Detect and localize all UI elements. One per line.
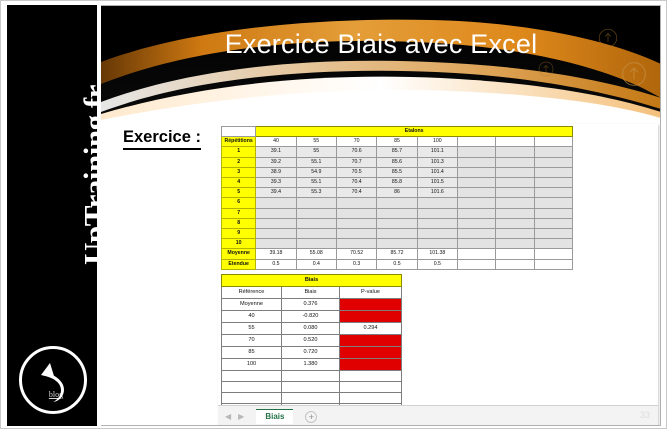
table-row[interactable]: 8: [222, 218, 573, 228]
biais-column-header: Biais: [282, 287, 340, 299]
biais-column-header: Référence: [222, 287, 282, 299]
measurement-cell[interactable]: [496, 157, 534, 167]
up-arrow-circle-watermark-small-icon: [538, 61, 554, 77]
measurement-cell[interactable]: 70.4: [336, 188, 376, 198]
summary-cell[interactable]: [496, 249, 534, 259]
table-row[interactable]: 338.954.970.585.5101.4: [222, 167, 573, 177]
measurement-cell[interactable]: [534, 198, 572, 208]
sheet-nav-prev-icon[interactable]: ◀: [225, 412, 231, 421]
measurement-cell[interactable]: 39.3: [256, 178, 296, 188]
repetition-label: 4: [222, 178, 256, 188]
measurement-cell[interactable]: [496, 198, 534, 208]
measurement-cell[interactable]: [458, 208, 496, 218]
etalon-column-header[interactable]: 70: [336, 137, 376, 147]
biais-reference-cell[interactable]: 70: [222, 335, 282, 347]
empty-cell[interactable]: [282, 371, 340, 382]
measurement-cell[interactable]: 70.6: [336, 147, 376, 157]
etalon-column-header[interactable]: [496, 137, 534, 147]
pvalue-cell[interactable]: [340, 347, 402, 359]
measurement-cell[interactable]: [296, 198, 336, 208]
measurement-cell[interactable]: 55.1: [296, 157, 336, 167]
biais-value-cell[interactable]: -0.820: [282, 311, 340, 323]
empty-cell[interactable]: [340, 393, 402, 404]
summary-cell[interactable]: 0.5: [377, 259, 417, 269]
table-row[interactable]: Moyenne0.376: [222, 299, 402, 311]
summary-row[interactable]: Moyenne39.1855.0870.5285.72101.38: [222, 249, 573, 259]
table-header-row: Répétitions40557085100: [222, 137, 573, 147]
repetition-label: 10: [222, 239, 256, 249]
measurement-cell[interactable]: [458, 229, 496, 239]
biais-reference-cell[interactable]: 55: [222, 323, 282, 335]
measurement-cell[interactable]: [417, 218, 457, 228]
measurement-cell[interactable]: [458, 198, 496, 208]
measurement-cell[interactable]: [336, 198, 376, 208]
table-row[interactable]: 550.0800.294: [222, 323, 402, 335]
repetition-label: 3: [222, 167, 256, 177]
corner-cell: [222, 127, 256, 137]
page-number: 33: [640, 410, 650, 420]
summary-row[interactable]: Etendue0.50.40.30.50.5: [222, 259, 573, 269]
summary-label: Etendue: [222, 259, 256, 269]
summary-cell[interactable]: 55.08: [296, 249, 336, 259]
repetitions-header: Répétitions: [222, 137, 256, 147]
empty-cell[interactable]: [282, 393, 340, 404]
excel-sheet-area[interactable]: EtalonsRépétitions40557085100139.15570.6…: [218, 124, 658, 405]
etalon-column-header[interactable]: 85: [377, 137, 417, 147]
table-header-row: RéférenceBiaisP-value: [222, 287, 402, 299]
measurement-cell[interactable]: 85.8: [377, 178, 417, 188]
table-row[interactable]: 439.355.170.485.8101.5: [222, 178, 573, 188]
measurement-cell[interactable]: [336, 208, 376, 218]
banner-swoosh-graphic: [101, 6, 661, 121]
summary-cell[interactable]: 0.3: [336, 259, 376, 269]
measurement-cell[interactable]: [296, 208, 336, 218]
table-row[interactable]: 10: [222, 239, 573, 249]
etalon-column-header[interactable]: 55: [296, 137, 336, 147]
excel-sheet-tabbar[interactable]: ◀ ▶ Biais +: [218, 405, 658, 426]
brand-name: UpTraining.fr: [77, 25, 97, 325]
measurement-cell[interactable]: [336, 229, 376, 239]
repetition-label: 1: [222, 147, 256, 157]
table-row[interactable]: 6: [222, 198, 573, 208]
measurement-cell[interactable]: [534, 208, 572, 218]
measurement-cell[interactable]: 101.6: [417, 188, 457, 198]
measurement-cell[interactable]: [417, 198, 457, 208]
summary-cell[interactable]: 70.52: [336, 249, 376, 259]
measurement-cell[interactable]: 55.1: [296, 178, 336, 188]
summary-cell[interactable]: 0.4: [296, 259, 336, 269]
summary-cell[interactable]: [458, 259, 496, 269]
biais-column-header: P-value: [340, 287, 402, 299]
etalon-column-header[interactable]: 40: [256, 137, 296, 147]
measurement-cell[interactable]: [377, 218, 417, 228]
repetition-label: 8: [222, 218, 256, 228]
biais-reference-cell[interactable]: 100: [222, 359, 282, 371]
measurement-cell[interactable]: [458, 178, 496, 188]
measurement-cell[interactable]: [496, 239, 534, 249]
pvalue-cell[interactable]: [340, 335, 402, 347]
biais-value-cell[interactable]: 0.520: [282, 335, 340, 347]
empty-cell[interactable]: [222, 382, 282, 393]
add-sheet-button[interactable]: +: [305, 411, 317, 423]
table-row[interactable]: 139.15570.685.7101.1: [222, 147, 573, 157]
table-row[interactable]: [222, 393, 402, 404]
table-row[interactable]: 850.720: [222, 347, 402, 359]
measurement-cell[interactable]: [534, 167, 572, 177]
repetition-label: 7: [222, 208, 256, 218]
sheet-tab-biais[interactable]: Biais: [256, 409, 293, 424]
table-row[interactable]: [222, 382, 402, 393]
measurement-cell[interactable]: [496, 167, 534, 177]
measurement-cell[interactable]: 85.6: [377, 157, 417, 167]
table-row[interactable]: 9: [222, 229, 573, 239]
measurement-cell[interactable]: 85.5: [377, 167, 417, 177]
measurement-cell[interactable]: [534, 229, 572, 239]
table-row[interactable]: 539.455.370.486101.6: [222, 188, 573, 198]
exercice-heading: Exercice :: [123, 128, 201, 150]
repetition-label: 5: [222, 188, 256, 198]
measurement-cell[interactable]: [256, 198, 296, 208]
measurement-cell[interactable]: [496, 229, 534, 239]
repetition-label: 2: [222, 157, 256, 167]
page-title: Exercice Biais avec Excel: [101, 29, 661, 60]
measurement-cell[interactable]: [496, 218, 534, 228]
table-row[interactable]: 7: [222, 208, 573, 218]
measurement-cell[interactable]: 39.1: [256, 147, 296, 157]
biais-value-cell[interactable]: 0.080: [282, 323, 340, 335]
summary-label: Moyenne: [222, 249, 256, 259]
table-row: Biais: [222, 275, 402, 287]
biais-reference-cell[interactable]: 85: [222, 347, 282, 359]
measurement-cell[interactable]: [496, 208, 534, 218]
table-row[interactable]: 40-0.820: [222, 311, 402, 323]
brand-logo-label: blog: [22, 390, 90, 399]
measurement-cell[interactable]: [377, 229, 417, 239]
biais-table[interactable]: BiaisRéférenceBiaisP-valueMoyenne0.37640…: [221, 274, 402, 415]
repetition-label: 9: [222, 229, 256, 239]
measurement-cell[interactable]: 39.2: [256, 157, 296, 167]
brand-logo: blog: [19, 346, 87, 414]
measurement-cell[interactable]: [534, 239, 572, 249]
biais-title-cell: Biais: [222, 275, 402, 287]
measurement-cell[interactable]: 101.4: [417, 167, 457, 177]
etalons-title-cell: Etalons: [256, 127, 573, 137]
summary-cell[interactable]: 0.5: [417, 259, 457, 269]
measurement-cell[interactable]: 55.3: [296, 188, 336, 198]
measurement-cell[interactable]: [496, 178, 534, 188]
measurement-cell[interactable]: [534, 218, 572, 228]
measurement-cell[interactable]: [256, 229, 296, 239]
measurement-cell[interactable]: [534, 157, 572, 167]
measurement-cell[interactable]: [296, 229, 336, 239]
table-row[interactable]: 239.255.170.785.6101.3: [222, 157, 573, 167]
measurement-cell[interactable]: [534, 178, 572, 188]
biais-value-cell[interactable]: 0.376: [282, 299, 340, 311]
measurement-cell[interactable]: 54.9: [296, 167, 336, 177]
summary-cell[interactable]: [458, 249, 496, 259]
empty-cell[interactable]: [222, 371, 282, 382]
measurement-cell[interactable]: [458, 167, 496, 177]
table-row[interactable]: 1001.380: [222, 359, 402, 371]
measurement-cell[interactable]: [534, 147, 572, 157]
measurement-cell[interactable]: 70.4: [336, 178, 376, 188]
measurement-cell[interactable]: 101.5: [417, 178, 457, 188]
empty-cell[interactable]: [340, 371, 402, 382]
pvalue-cell[interactable]: [340, 359, 402, 371]
biais-reference-cell[interactable]: 40: [222, 311, 282, 323]
measurement-cell[interactable]: 70.5: [336, 167, 376, 177]
measurement-cell[interactable]: [458, 239, 496, 249]
empty-cell[interactable]: [282, 382, 340, 393]
biais-value-cell[interactable]: 1.380: [282, 359, 340, 371]
measurement-cell[interactable]: 39.4: [256, 188, 296, 198]
measurement-cell[interactable]: [336, 239, 376, 249]
etalon-column-header[interactable]: [534, 137, 572, 147]
measurement-cell[interactable]: [256, 239, 296, 249]
summary-cell[interactable]: [534, 249, 572, 259]
measurement-cell[interactable]: 55: [296, 147, 336, 157]
curved-arrow-icon: [33, 357, 77, 407]
measurement-cell[interactable]: [458, 147, 496, 157]
empty-cell[interactable]: [222, 393, 282, 404]
measurement-cell[interactable]: [377, 239, 417, 249]
sheet-nav-next-icon[interactable]: ▶: [238, 412, 244, 421]
biais-value-cell[interactable]: 0.720: [282, 347, 340, 359]
brand-vertical-text-wrap: UpTraining.fr Devenez Black Belt en Lean…: [7, 5, 97, 335]
table-row[interactable]: 700.520: [222, 335, 402, 347]
summary-cell[interactable]: 0.5: [256, 259, 296, 269]
embedded-excel-object[interactable]: EtalonsRépétitions40557085100139.15570.6…: [218, 124, 658, 426]
measurement-cell[interactable]: 101.3: [417, 157, 457, 167]
summary-cell[interactable]: 39.18: [256, 249, 296, 259]
slide-panel: Exercice Biais avec Excel Exercice :: [101, 5, 661, 426]
etalon-column-header[interactable]: [458, 137, 496, 147]
measurement-cell[interactable]: [458, 218, 496, 228]
empty-cell[interactable]: [340, 382, 402, 393]
slide-frame: UpTraining.fr Devenez Black Belt en Lean…: [0, 0, 667, 429]
summary-cell[interactable]: [496, 259, 534, 269]
summary-cell[interactable]: [534, 259, 572, 269]
measurement-cell[interactable]: [496, 147, 534, 157]
measurement-cell[interactable]: 70.7: [336, 157, 376, 167]
measurement-cell[interactable]: [534, 188, 572, 198]
measurement-cell[interactable]: [377, 198, 417, 208]
etalons-table[interactable]: EtalonsRépétitions40557085100139.15570.6…: [221, 126, 573, 270]
table-row: Etalons: [222, 127, 573, 137]
measurement-cell[interactable]: [256, 208, 296, 218]
summary-cell[interactable]: 85.72: [377, 249, 417, 259]
measurement-cell[interactable]: [417, 229, 457, 239]
measurement-cell[interactable]: 85.7: [377, 147, 417, 157]
measurement-cell[interactable]: 86: [377, 188, 417, 198]
measurement-cell[interactable]: [296, 218, 336, 228]
measurement-cell[interactable]: [256, 218, 296, 228]
measurement-cell[interactable]: [336, 218, 376, 228]
repetition-label: 6: [222, 198, 256, 208]
table-row[interactable]: [222, 371, 402, 382]
measurement-cell[interactable]: [496, 188, 534, 198]
measurement-cell[interactable]: [417, 239, 457, 249]
measurement-cell[interactable]: [377, 208, 417, 218]
summary-cell[interactable]: 101.38: [417, 249, 457, 259]
measurement-cell[interactable]: [417, 208, 457, 218]
measurement-cell[interactable]: [458, 157, 496, 167]
measurement-cell[interactable]: 101.1: [417, 147, 457, 157]
etalon-column-header[interactable]: 100: [417, 137, 457, 147]
measurement-cell[interactable]: 38.9: [256, 167, 296, 177]
brand-sidebar: UpTraining.fr Devenez Black Belt en Lean…: [7, 5, 97, 426]
pvalue-cell[interactable]: [340, 299, 402, 311]
biais-reference-cell[interactable]: Moyenne: [222, 299, 282, 311]
pvalue-cell[interactable]: 0.294: [340, 323, 402, 335]
measurement-cell[interactable]: [458, 188, 496, 198]
title-banner: Exercice Biais avec Excel: [101, 6, 661, 121]
measurement-cell[interactable]: [296, 239, 336, 249]
pvalue-cell[interactable]: [340, 311, 402, 323]
up-arrow-circle-watermark-large-icon: [621, 61, 647, 87]
